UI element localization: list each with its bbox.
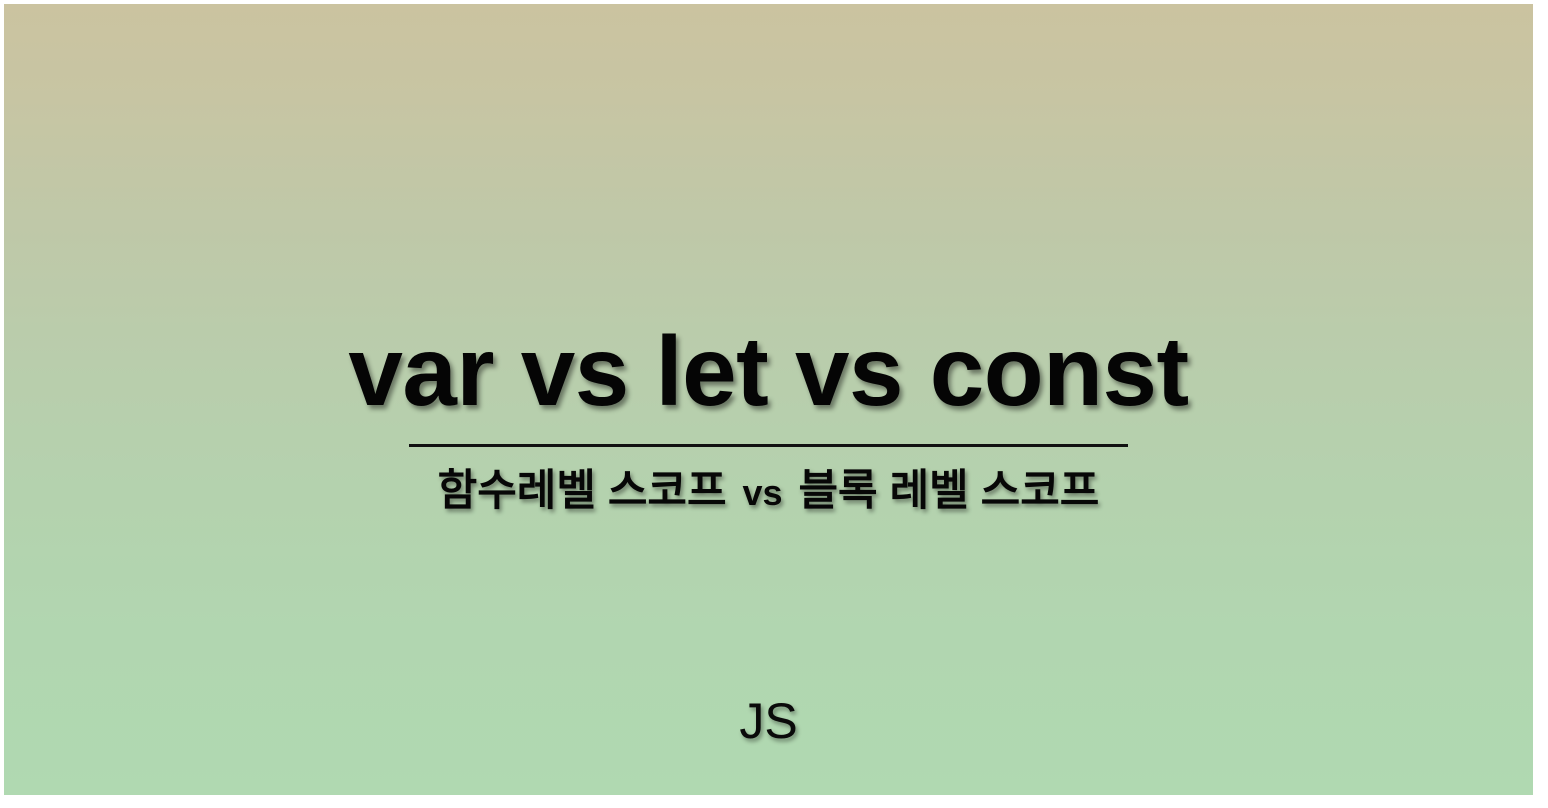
slide-content: var vs let vs const 함수레벨 스코프 vs 블록 레벨 스코…: [4, 4, 1533, 795]
subtitle-separator: vs: [739, 472, 787, 513]
subtitle-right-term: 블록 레벨 스코프: [799, 467, 1100, 515]
title-divider: [409, 444, 1128, 447]
slide-subtitle: 함수레벨 스코프 vs 블록 레벨 스코프: [4, 467, 1533, 516]
slide-frame: var vs let vs const 함수레벨 스코프 vs 블록 레벨 스코…: [4, 4, 1533, 795]
slide-topic-tag: JS: [4, 696, 1533, 746]
slide-title: var vs let vs const: [4, 322, 1533, 420]
subtitle-left-term: 함수레벨 스코프: [438, 467, 727, 515]
title-block: var vs let vs const 함수레벨 스코프 vs 블록 레벨 스코…: [4, 322, 1533, 516]
